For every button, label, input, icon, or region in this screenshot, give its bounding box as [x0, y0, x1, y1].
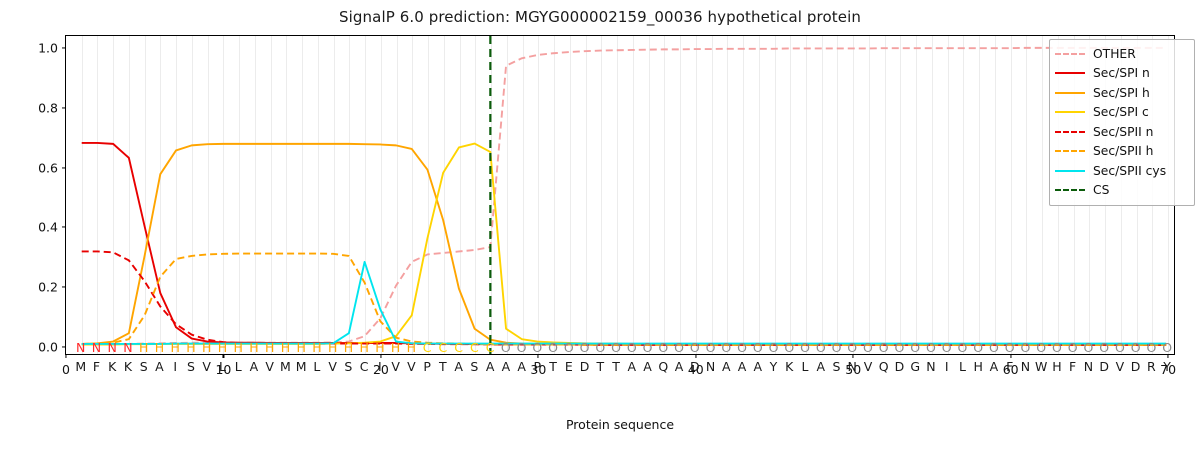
residue-cell: A: [816, 359, 825, 374]
residue-cell: D: [1099, 359, 1109, 374]
residue-cell: S: [470, 359, 478, 374]
y-tick-mark: [62, 287, 66, 288]
residue-cell: M: [75, 359, 86, 374]
annotation-cell: H: [186, 340, 195, 355]
residue-cell: K: [785, 359, 793, 374]
annotation-cell: O: [816, 340, 826, 355]
annotation-cell: H: [391, 340, 400, 355]
residue-cell: D: [1131, 359, 1141, 374]
annotation-cell: O: [784, 340, 794, 355]
annotation-cell: O: [532, 340, 542, 355]
legend-secspii-h[interactable]: Sec/SPII h: [1055, 142, 1189, 162]
curve-sec-spi-n: [82, 143, 1166, 345]
residue-cell: Q: [879, 359, 889, 374]
annotation-cell: O: [674, 340, 684, 355]
annotation-cell: O: [1052, 340, 1062, 355]
annotation-cell: H: [171, 340, 180, 355]
annotation-cell: C: [454, 340, 463, 355]
residue-cell: V: [328, 359, 337, 374]
residue-cell: A: [722, 359, 731, 374]
curve-sec-spi-c: [82, 144, 1166, 345]
residue-cell: A: [753, 359, 762, 374]
residue-cell: A: [155, 359, 164, 374]
residue-cell: H: [973, 359, 982, 374]
annotation-cell: N: [123, 340, 132, 355]
legend-cs-label: CS: [1093, 183, 1109, 197]
legend-secspii-cys[interactable]: Sec/SPII cys: [1055, 161, 1189, 181]
residue-cell: K: [108, 359, 116, 374]
residue-cell: I: [378, 359, 382, 374]
annotation-cell: O: [1036, 340, 1046, 355]
residue-cell: N: [926, 359, 935, 374]
residue-cell: N: [1021, 359, 1030, 374]
residue-cell: V: [202, 359, 211, 374]
annotation-cell: H: [407, 340, 416, 355]
residue-cell: I: [945, 359, 949, 374]
residue-cell: K: [124, 359, 132, 374]
annotation-cell: O: [627, 340, 637, 355]
residue-cell: I: [173, 359, 177, 374]
residue-cell: V: [265, 359, 274, 374]
annotation-cell: N: [92, 340, 101, 355]
annotation-cell: O: [564, 340, 574, 355]
residue-cell: M: [280, 359, 291, 374]
annotation-cell: O: [832, 340, 842, 355]
residue-cell: Y: [770, 359, 778, 374]
annotation-cell: C: [423, 340, 432, 355]
annotation-cell: O: [548, 340, 558, 355]
residue-cell: A: [628, 359, 637, 374]
annotation-cell: C: [470, 340, 479, 355]
annotation-cell: O: [690, 340, 700, 355]
legend-secspii-n[interactable]: Sec/SPII n: [1055, 122, 1189, 142]
residue-cell: F: [93, 359, 100, 374]
residue-cell: M: [296, 359, 307, 374]
legend-secspi-h-label: Sec/SPI h: [1093, 86, 1150, 100]
annotation-cell: H: [359, 340, 368, 355]
residue-cell: P: [423, 359, 431, 374]
legend: OTHERSec/SPI nSec/SPI hSec/SPI cSec/SPII…: [1049, 39, 1195, 206]
residue-cell: Y: [1163, 359, 1171, 374]
residue-cell: V: [391, 359, 400, 374]
residue-cell: L: [313, 359, 320, 374]
residue-cell: A: [990, 359, 999, 374]
residue-cell: T: [439, 359, 447, 374]
legend-cs[interactable]: CS: [1055, 181, 1189, 201]
residue-cell: C: [360, 359, 369, 374]
plot-inner: [66, 36, 1174, 354]
residue-cell: Q: [658, 359, 668, 374]
residue-cell: L: [219, 359, 226, 374]
annotation-cell: O: [1005, 340, 1015, 355]
annotation-cell: O: [643, 340, 653, 355]
residue-cell: A: [454, 359, 463, 374]
annotation-cell: O: [958, 340, 968, 355]
annotation-cell: O: [1131, 340, 1141, 355]
residue-cell: L: [235, 359, 242, 374]
y-tick-label: 0.8: [38, 100, 58, 115]
page-title: SignalP 6.0 prediction: MGYG000002159_00…: [0, 8, 1200, 26]
legend-secspi-c[interactable]: Sec/SPI c: [1055, 103, 1189, 123]
residue-cell: W: [1035, 359, 1047, 374]
residue-cell: D: [895, 359, 905, 374]
y-tick-label: 0.6: [38, 160, 58, 175]
annotation-cell: O: [989, 340, 999, 355]
residue-cell: R: [1147, 359, 1156, 374]
annotation-cell: O: [1162, 340, 1172, 355]
annotation-cell: O: [863, 340, 873, 355]
residue-cell: H: [1052, 359, 1061, 374]
annotation-cell: O: [658, 340, 668, 355]
curve-sec-spii-cys: [82, 262, 1166, 344]
y-tick-mark: [62, 107, 66, 108]
annotation-cell: H: [265, 340, 274, 355]
y-tick-mark: [62, 47, 66, 48]
legend-secspi-c-swatch: [1055, 107, 1085, 118]
annotation-cell: O: [973, 340, 983, 355]
sequence-row: MFKKSAISVLLAVMMLVSCIVVPTASAAAPTEDTTAAQAD…: [65, 359, 1175, 374]
signalp-plot-page: SignalP 6.0 prediction: MGYG000002159_00…: [0, 0, 1200, 450]
y-tick-label: 0.4: [38, 220, 58, 235]
residue-cell: A: [675, 359, 684, 374]
legend-secspi-n-label: Sec/SPI n: [1093, 66, 1150, 80]
curve-layer: [66, 36, 1174, 354]
x-axis-label: Protein sequence: [65, 417, 1175, 432]
annotation-cell: O: [595, 340, 605, 355]
plot-area: 0.00.20.40.60.81.0 010203040506070: [65, 35, 1175, 355]
annotation-cell: O: [580, 340, 590, 355]
annotation-cell: O: [1115, 340, 1125, 355]
residue-cell: V: [864, 359, 873, 374]
annotation-cell: O: [517, 340, 527, 355]
annotation-cell: O: [1083, 340, 1093, 355]
legend-secspii-n-swatch: [1055, 126, 1085, 137]
y-tick-label: 0.2: [38, 280, 58, 295]
residue-cell: N: [1084, 359, 1093, 374]
residue-cell: S: [187, 359, 195, 374]
annotation-cell: H: [312, 340, 321, 355]
residue-cell: T: [549, 359, 557, 374]
annotation-cell: O: [737, 340, 747, 355]
annotation-cell: H: [139, 340, 148, 355]
annotation-cell: H: [328, 340, 337, 355]
annotation-cell: H: [202, 340, 211, 355]
legend-secspii-cys-swatch: [1055, 165, 1085, 176]
residue-cell: T: [596, 359, 604, 374]
annotation-cell: O: [800, 340, 810, 355]
annotation-cell: H: [249, 340, 258, 355]
residue-cell: A: [250, 359, 259, 374]
residue-cell: A: [486, 359, 495, 374]
annotation-cell: H: [344, 340, 353, 355]
y-tick-mark: [62, 227, 66, 228]
y-tick-label: 1.0: [38, 40, 58, 55]
residue-cell: P: [534, 359, 542, 374]
annotation-cell: O: [847, 340, 857, 355]
curve-sec-spii-h: [82, 254, 1166, 345]
residue-cell: S: [344, 359, 352, 374]
legend-secspi-h[interactable]: Sec/SPI h: [1055, 83, 1189, 103]
annotation-cell: O: [910, 340, 920, 355]
annotation-cell: O: [501, 340, 511, 355]
annotation-cell: H: [296, 340, 305, 355]
annotation-row: NNNNHHHHHHHHHHHHHHHHHHCCCCCOOOOOOOOOOOOO…: [65, 340, 1175, 355]
annotation-cell: C: [438, 340, 447, 355]
residue-cell: S: [833, 359, 841, 374]
annotation-cell: O: [1099, 340, 1109, 355]
y-tick-mark: [62, 167, 66, 168]
curve-sec-spi-h: [82, 144, 1166, 345]
annotation-cell: O: [706, 340, 716, 355]
annotation-cell: H: [233, 340, 242, 355]
annotation-cell: O: [879, 340, 889, 355]
residue-cell: E: [565, 359, 573, 374]
annotation-cell: O: [753, 340, 763, 355]
legend-secspii-h-swatch: [1055, 146, 1085, 157]
y-tick-label: 0.0: [38, 340, 58, 355]
legend-cs-swatch: [1055, 185, 1085, 196]
legend-other[interactable]: OTHER: [1055, 44, 1189, 64]
residue-cell: L: [802, 359, 809, 374]
legend-other-swatch: [1055, 48, 1085, 59]
annotation-cell: H: [218, 340, 227, 355]
annotation-cell: H: [155, 340, 164, 355]
annotation-cell: O: [1021, 340, 1031, 355]
annotation-cell: O: [942, 340, 952, 355]
residue-cell: F: [1069, 359, 1076, 374]
annotation-cell: O: [611, 340, 621, 355]
residue-cell: L: [959, 359, 966, 374]
annotation-cell: H: [281, 340, 290, 355]
residue-cell: S: [140, 359, 148, 374]
residue-cell: A: [643, 359, 652, 374]
legend-secspi-h-swatch: [1055, 87, 1085, 98]
residue-cell: V: [1116, 359, 1125, 374]
residue-cell: T: [612, 359, 620, 374]
residue-cell: A: [517, 359, 526, 374]
legend-secspi-c-label: Sec/SPI c: [1093, 105, 1149, 119]
residue-cell: N: [706, 359, 715, 374]
annotation-cell: O: [895, 340, 905, 355]
legend-secspii-cys-label: Sec/SPII cys: [1093, 164, 1166, 178]
annotation-cell: O: [926, 340, 936, 355]
residue-cell: D: [580, 359, 590, 374]
annotation-cell: O: [1146, 340, 1156, 355]
residue-cell: F: [1006, 359, 1013, 374]
residue-cell: V: [407, 359, 416, 374]
curve-sec-spii-n: [82, 251, 1166, 344]
annotation-cell: O: [721, 340, 731, 355]
curve-other: [82, 48, 1166, 344]
residue-cell: D: [690, 359, 700, 374]
annotation-cell: H: [375, 340, 384, 355]
residue-cell: N: [848, 359, 857, 374]
annotation-cell: N: [108, 340, 117, 355]
annotation-cell: N: [76, 340, 85, 355]
legend-secspi-n-swatch: [1055, 68, 1085, 79]
legend-other-label: OTHER: [1093, 47, 1136, 61]
annotation-cell: O: [1068, 340, 1078, 355]
legend-secspii-n-label: Sec/SPII n: [1093, 125, 1153, 139]
legend-secspii-h-label: Sec/SPII h: [1093, 144, 1153, 158]
residue-cell: A: [502, 359, 511, 374]
annotation-cell: C: [486, 340, 495, 355]
residue-cell: G: [910, 359, 920, 374]
annotation-cell: O: [769, 340, 779, 355]
residue-cell: A: [738, 359, 747, 374]
legend-secspi-n[interactable]: Sec/SPI n: [1055, 64, 1189, 84]
